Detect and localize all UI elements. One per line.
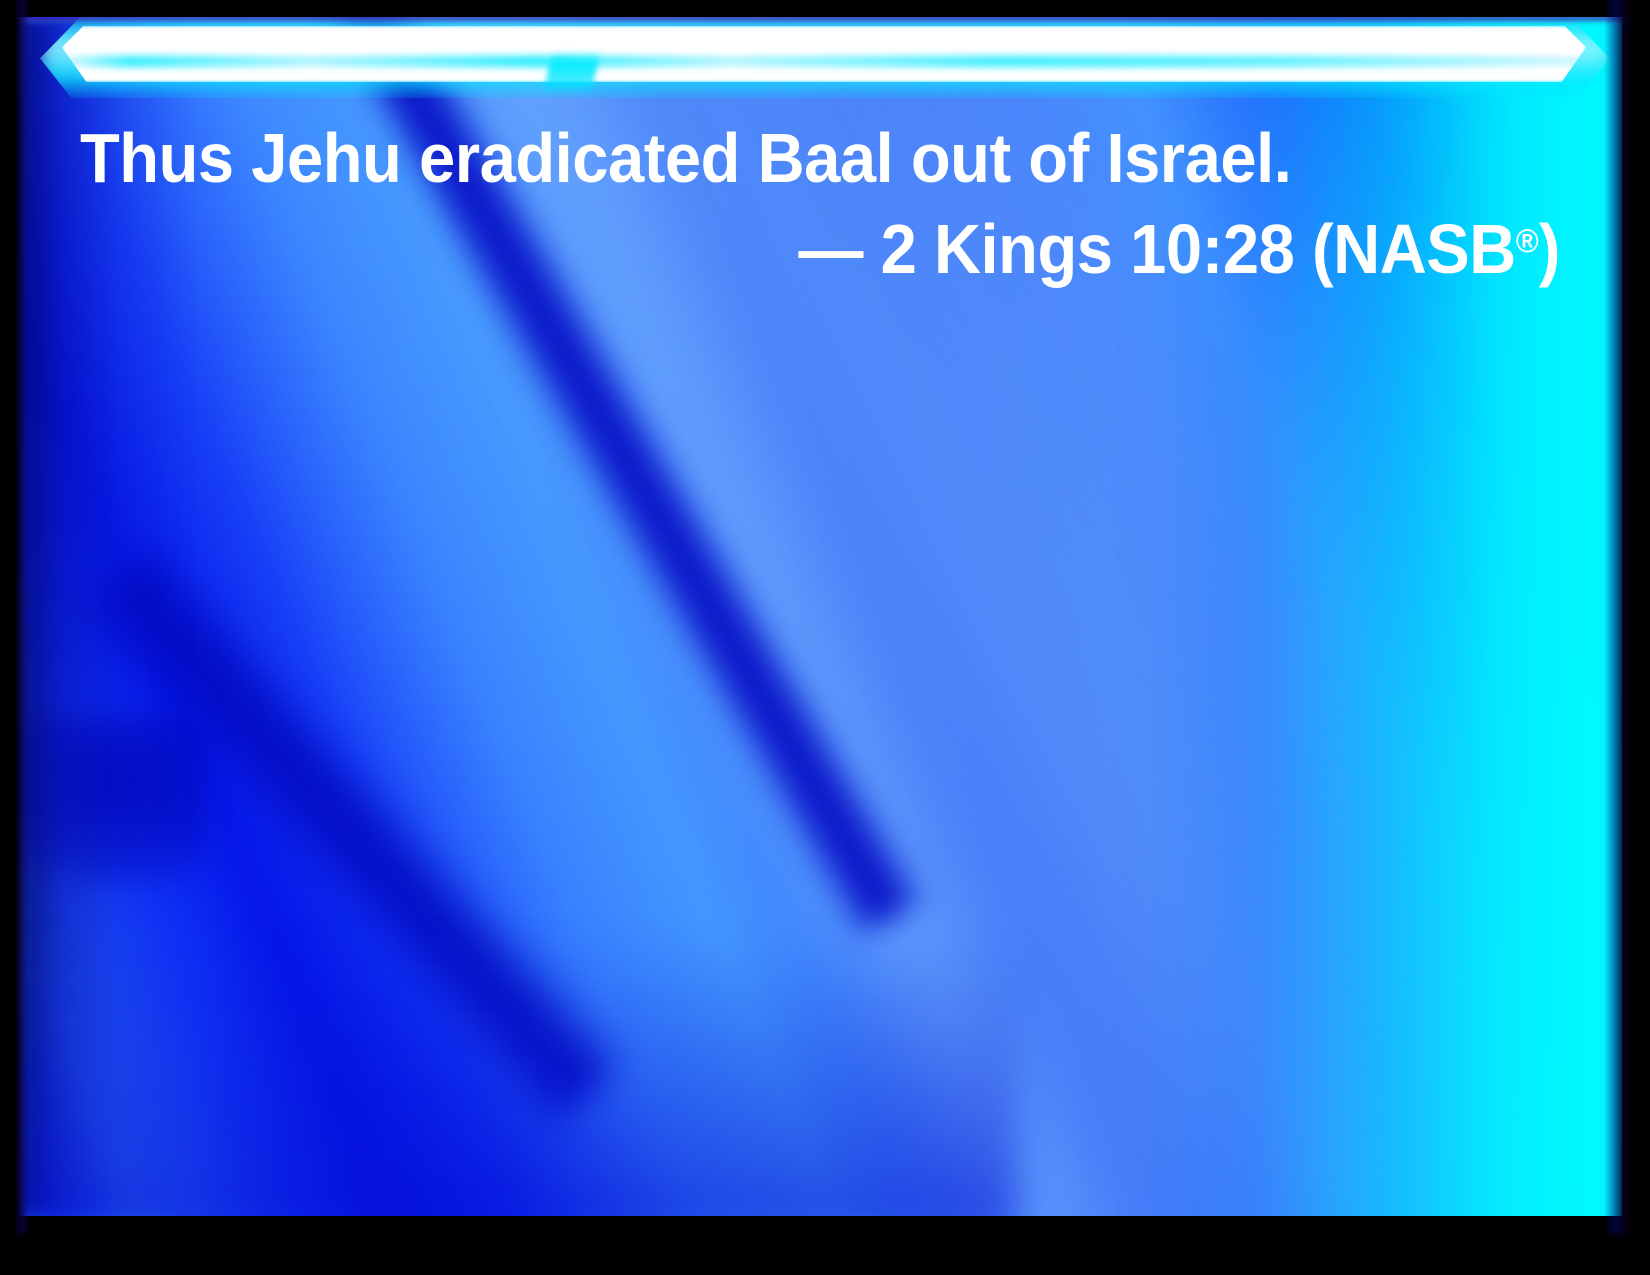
verse-slide: Thus Jehu eradicated Baal out of Israel.… [0,0,1650,1275]
citation-suffix: ) [1539,210,1560,288]
frame-border-top [0,0,1650,17]
frame-border-right [1604,0,1650,1275]
registered-trademark-icon: ® [1516,223,1539,260]
background-dark-ribbon-elbow [18,716,208,886]
verse-citation: — 2 Kings 10:28 (NASB®) [184,200,1560,291]
background-dark-ribbon-lower [73,536,631,1136]
frame-border-left [0,0,30,1275]
citation-prefix: — 2 Kings 10:28 (NASB [798,210,1515,288]
verse-text: Thus Jehu eradicated Baal out of Israel. [80,116,1456,200]
frame-border-bottom [0,1233,1650,1275]
verse-text-block: Thus Jehu eradicated Baal out of Israel.… [80,116,1560,291]
background-bottom-shadow [18,936,1018,1216]
